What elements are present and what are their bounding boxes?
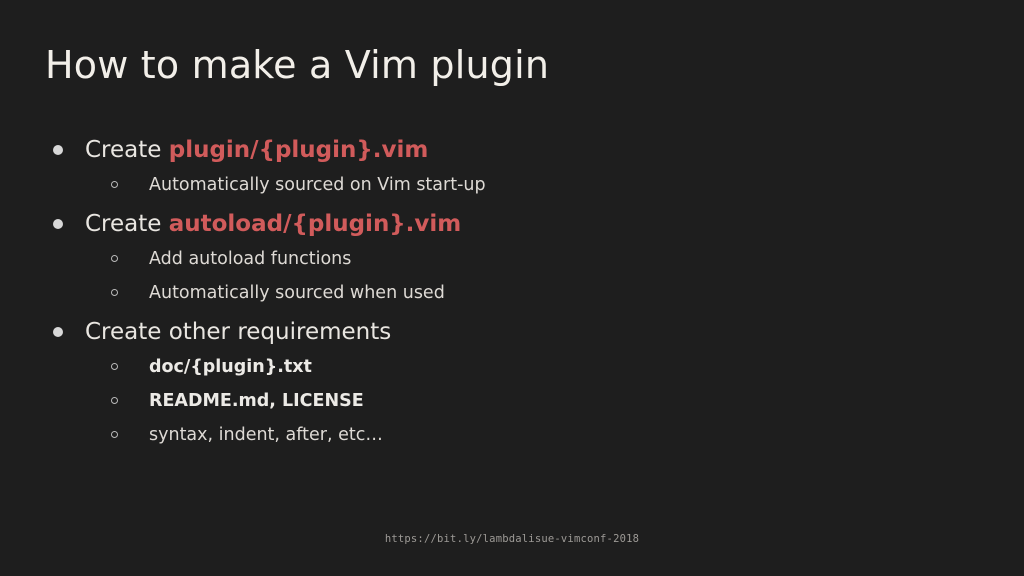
bullet-ring-icon [45,367,149,368]
bullet-ring-icon [45,401,149,402]
list-item: Create other requirements [45,316,975,348]
bullet-list: Create plugin/{plugin}.vim Automatically… [45,134,975,458]
list-item: Create plugin/{plugin}.vim [45,134,975,166]
list-item-code: plugin/{plugin}.vim [169,137,429,163]
list-item-text: Create [85,137,169,163]
list-item: Create autoload/{plugin}.vim [45,208,975,240]
page-title: How to make a Vim plugin [45,43,549,87]
list-item-label: Automatically sourced when used [149,280,445,306]
list-item: Automatically sourced when used [45,280,975,306]
bullet-group: Create plugin/{plugin}.vim Automatically… [45,134,975,198]
list-item-label: README.md, LICENSE [149,388,364,414]
list-item: Add autoload functions [45,246,975,272]
bullet-group: Create autoload/{plugin}.vim Add autoloa… [45,208,975,306]
list-item-text: Create [85,211,169,237]
bullet-ring-icon [45,293,149,294]
bullet-ring-icon [45,435,149,436]
bullet-dot-icon [45,224,85,225]
slide: How to make a Vim plugin Create plugin/{… [0,0,1024,576]
bullet-ring-icon [45,185,149,186]
footer-url: https://bit.ly/lambdalisue-vimconf-2018 [0,533,1024,545]
list-item-label: doc/{plugin}.txt [149,354,312,380]
list-item: syntax, indent, after, etc… [45,422,975,448]
list-item: README.md, LICENSE [45,388,975,414]
list-item-label: Create other requirements [85,316,391,348]
list-item-label: Automatically sourced on Vim start-up [149,172,486,198]
bullet-group: Create other requirements doc/{plugin}.t… [45,316,975,448]
list-item-label: Create plugin/{plugin}.vim [85,134,428,166]
bullet-dot-icon [45,150,85,151]
list-item-label: Create autoload/{plugin}.vim [85,208,461,240]
bullet-ring-icon [45,259,149,260]
list-item: Automatically sourced on Vim start-up [45,172,975,198]
bullet-dot-icon [45,332,85,333]
list-item-label: Add autoload functions [149,246,351,272]
list-item-code: autoload/{plugin}.vim [169,211,462,237]
list-item-text: Create other requirements [85,319,391,345]
list-item-label: syntax, indent, after, etc… [149,422,383,448]
list-item: doc/{plugin}.txt [45,354,975,380]
